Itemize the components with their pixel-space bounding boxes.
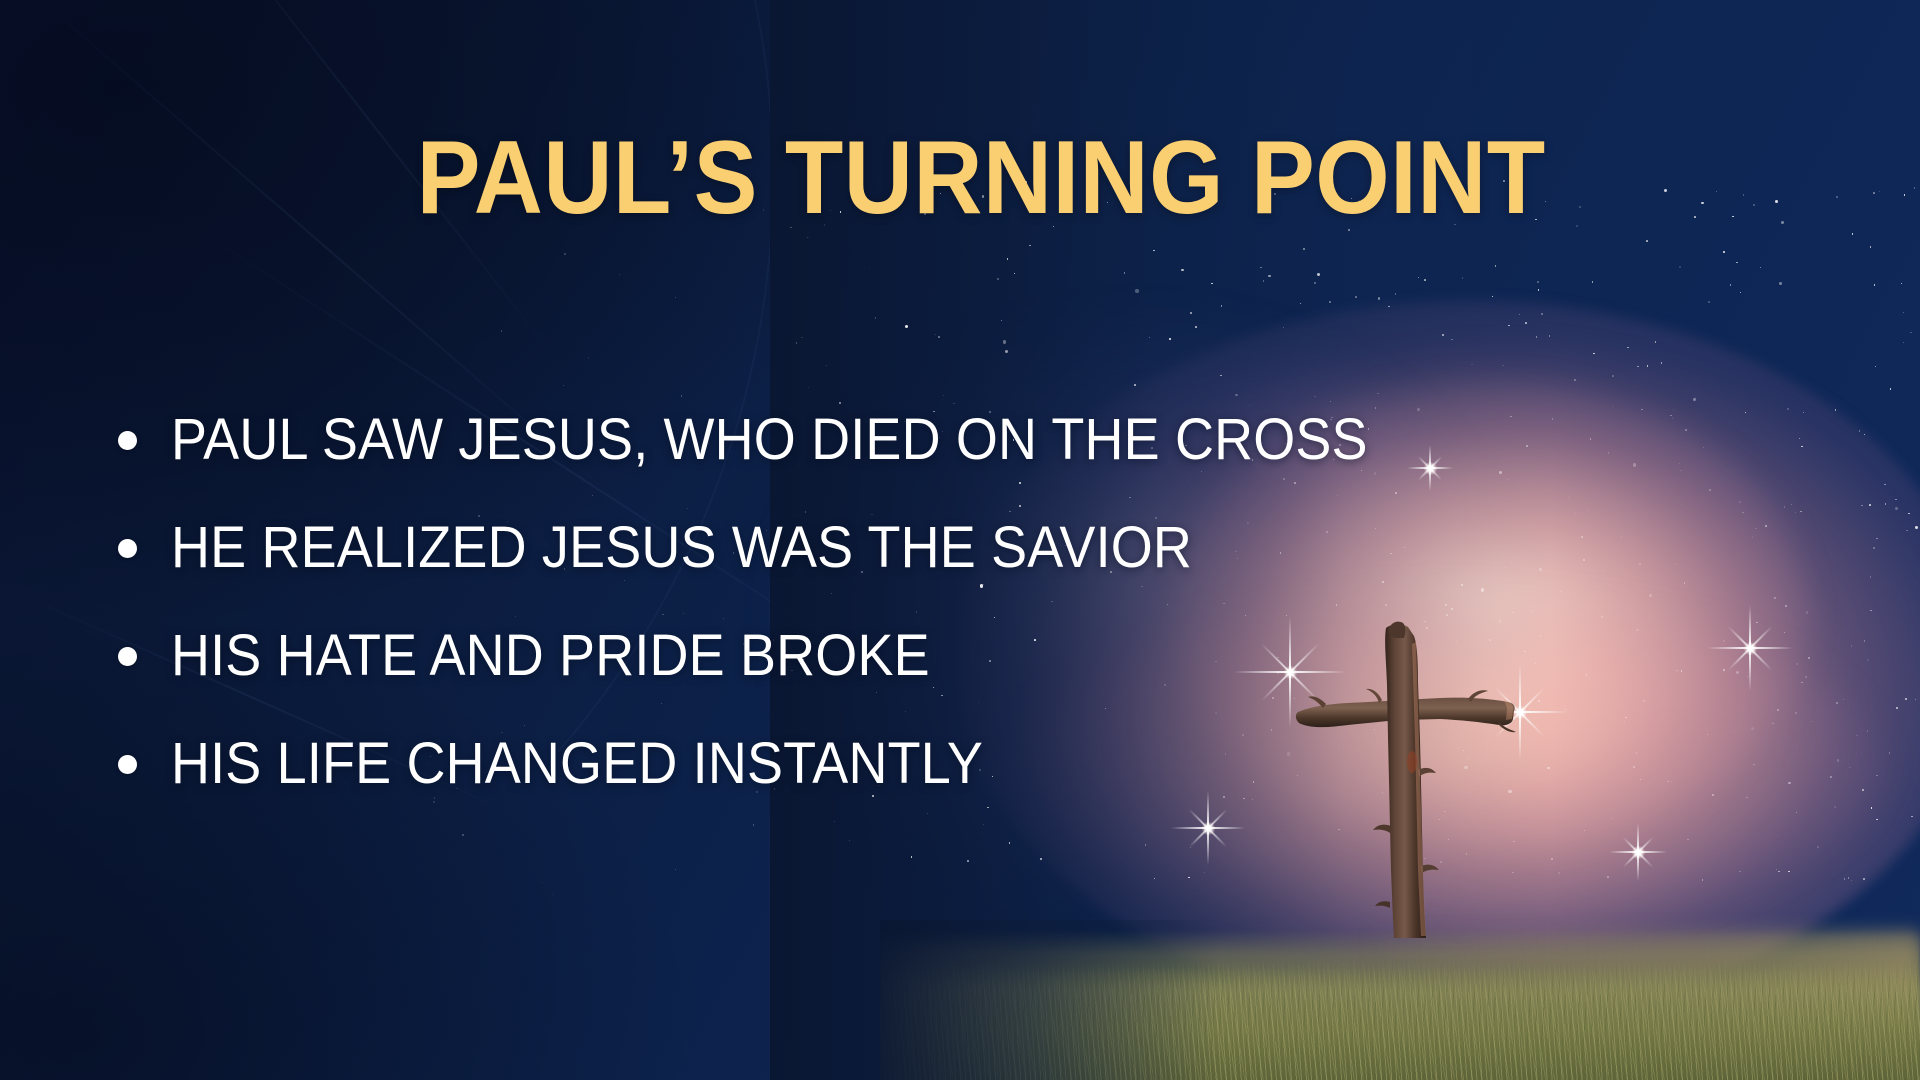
page-title: PAUL’S TURNING POINT: [77, 126, 1843, 230]
bullet-text: HIS HATE AND PRIDE BROKE: [171, 626, 930, 687]
list-item: HIS LIFE CHANGED INSTANTLY: [118, 710, 1618, 818]
bullet-dot-icon: [118, 647, 137, 666]
bullet-text: HIS LIFE CHANGED INSTANTLY: [171, 734, 983, 795]
bullet-list: PAUL SAW JESUS, WHO DIED ON THE CROSS HE…: [118, 386, 1618, 818]
grass-field-icon: [880, 900, 1920, 1080]
list-item: HIS HATE AND PRIDE BROKE: [118, 602, 1618, 710]
bullet-dot-icon: [118, 539, 137, 558]
bullet-dot-icon: [118, 755, 137, 774]
bullet-dot-icon: [118, 431, 137, 450]
bullet-text: PAUL SAW JESUS, WHO DIED ON THE CROSS: [171, 410, 1368, 471]
bullet-text: HE REALIZED JESUS WAS THE SAVIOR: [171, 518, 1192, 579]
presentation-slide: PAUL’S TURNING POINT PAUL SAW JESUS, WHO…: [0, 0, 1920, 1080]
grass-left-fade: [880, 920, 1220, 1080]
list-item: PAUL SAW JESUS, WHO DIED ON THE CROSS: [118, 386, 1618, 494]
list-item: HE REALIZED JESUS WAS THE SAVIOR: [118, 494, 1618, 602]
